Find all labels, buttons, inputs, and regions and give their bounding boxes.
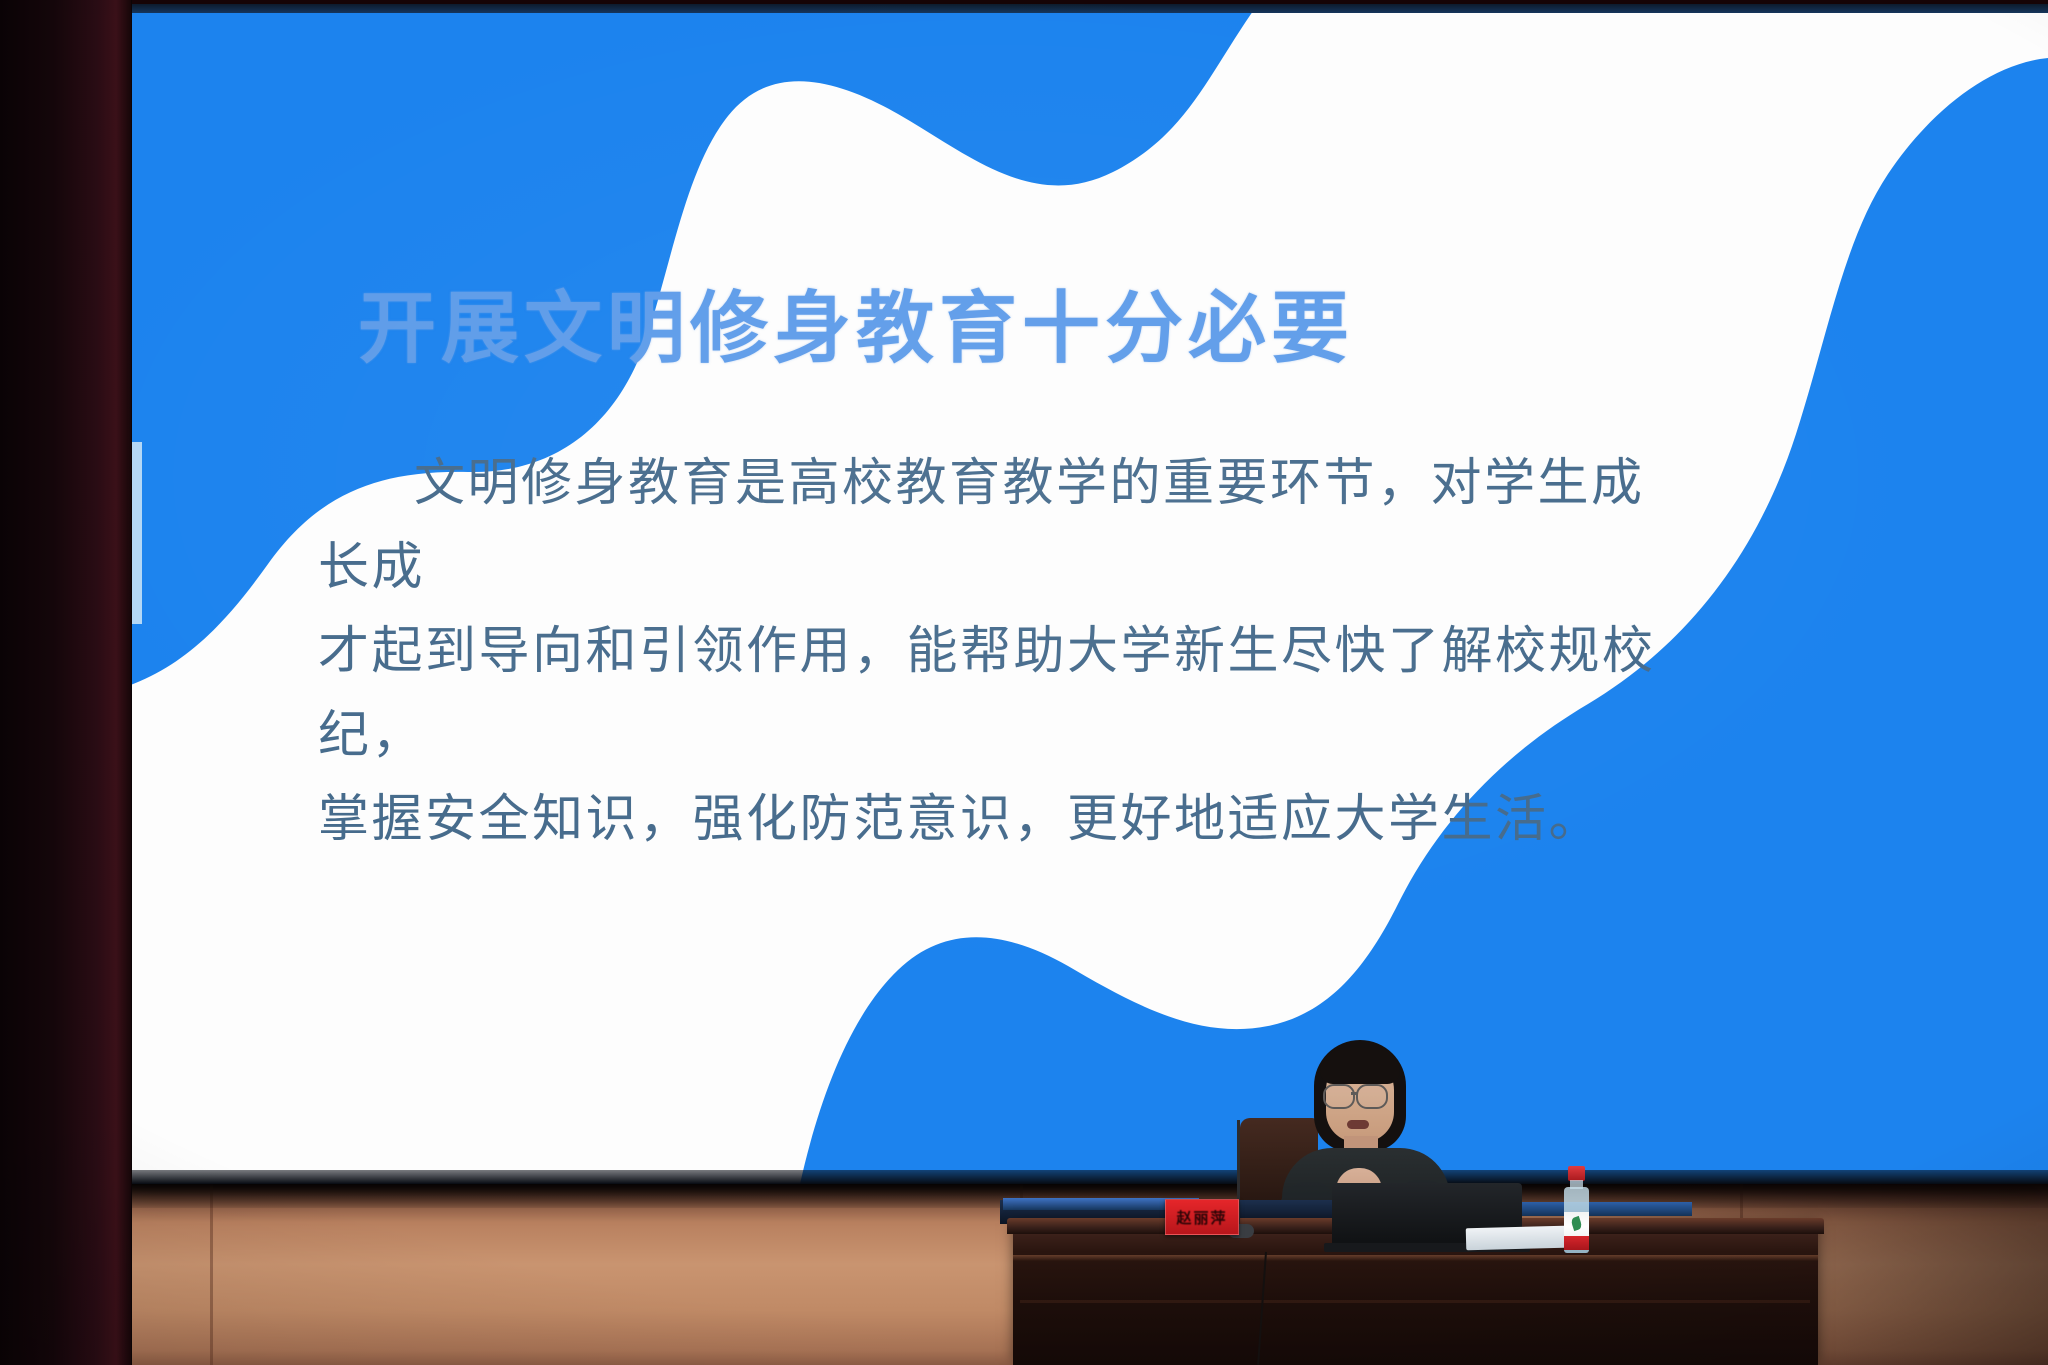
- papers: [1466, 1226, 1567, 1251]
- presenter-bangs: [1320, 1048, 1400, 1084]
- photo-scene: 开展文明修身教育十分必要 文明修身教育是高校教育教学的重要环节，对学生成长成 才…: [0, 0, 2048, 1365]
- screen-top-edge: [128, 4, 2048, 13]
- bottle-label-red-band: [1564, 1236, 1589, 1250]
- nameplate: 赵丽萍: [1165, 1199, 1239, 1235]
- bottle-cap: [1568, 1166, 1585, 1181]
- nameplate-text: 赵丽萍: [1176, 1207, 1227, 1228]
- wall-seam: [210, 1182, 213, 1365]
- podium-lip: [1013, 1255, 1818, 1261]
- podium-front-edge: [1020, 1300, 1810, 1303]
- screen-bottom-edge: [128, 1170, 2048, 1184]
- glasses-right-lens: [1356, 1084, 1388, 1109]
- slide-title: 开展文明修身教育十分必要: [358, 266, 1354, 378]
- projection-screen: 开展文明修身教育十分必要 文明修身教育是高校教育教学的重要环节，对学生成长成 才…: [128, 4, 2048, 1184]
- slide-body-line-1: 文明修身教育是高校教育教学的重要环节，对学生成长成: [318, 442, 1678, 610]
- slide-body-line-1-text: 文明修身教育是高校教育教学的重要环节，对学生成长成: [318, 456, 1645, 596]
- presenter-mouth: [1347, 1120, 1369, 1129]
- glasses-left-lens: [1323, 1084, 1355, 1109]
- slide-body-line-2: 才起到导向和引领作用，能帮助大学新生尽快了解校规校纪，: [318, 610, 1678, 778]
- glasses-bridge: [1351, 1092, 1358, 1095]
- curtain-left: [0, 0, 132, 1365]
- slide-body: 文明修身教育是高校教育教学的重要环节，对学生成长成 才起到导向和引领作用，能帮助…: [318, 442, 1678, 862]
- slide-body-line-3: 掌握安全知识，强化防范意识，更好地适应大学生活。: [318, 778, 1678, 862]
